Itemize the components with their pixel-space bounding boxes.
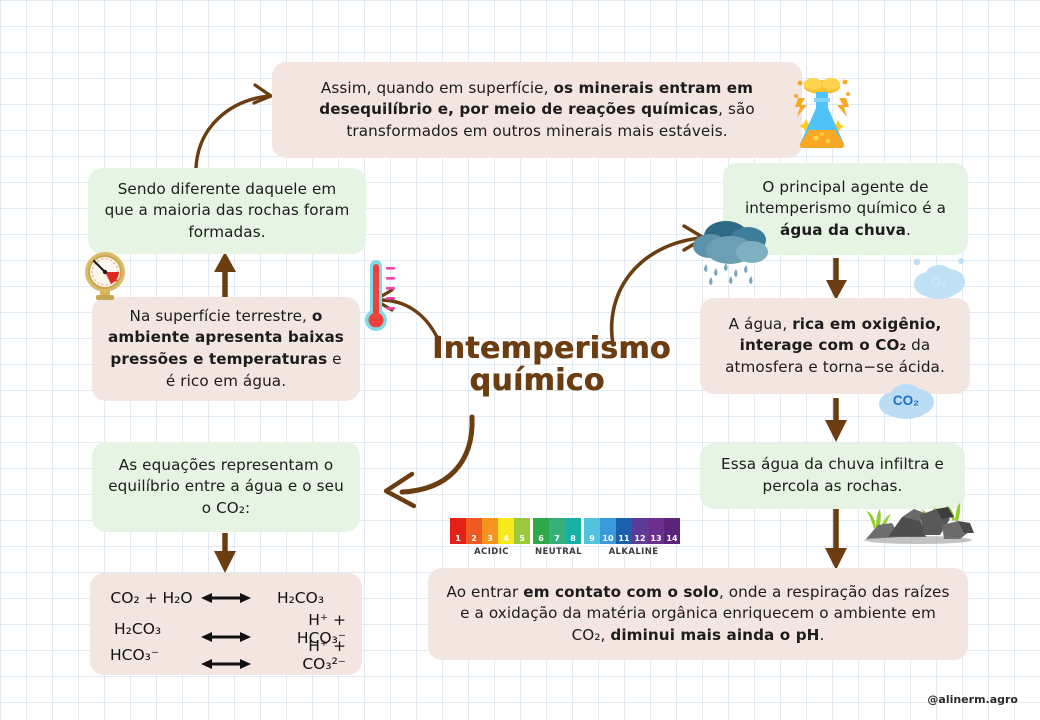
ph-cell: 2 [466, 518, 482, 544]
equilibrium-arrow-icon [186, 639, 266, 671]
right-oxygen-part1: A água, [729, 315, 793, 333]
ph-cell: 5 [514, 518, 530, 544]
ph-value: 5 [519, 534, 525, 543]
bottom-soil-bold1: em contato com o solo [523, 583, 719, 601]
pressure-gauge-icon [81, 250, 129, 302]
equations-box: CO₂ + H₂O H₂CO₃ H₂CO₃ H⁺ + HCO₃⁻ [90, 573, 362, 675]
right-infiltra-text: Essa água da chuva infiltra e percola as… [714, 454, 951, 497]
ph-value: 8 [570, 534, 576, 543]
equation-row: H₂CO₃ H⁺ + HCO₃⁻ [106, 611, 346, 637]
ph-value: 12 [634, 534, 645, 543]
bottom-soil-bold2: diminui mais ainda o pH [610, 626, 819, 644]
bottom-soil-part3: . [820, 626, 825, 644]
rocks-icon [858, 495, 978, 545]
ph-value: 13 [650, 534, 661, 543]
co2-cloud-icon: CO₂ [872, 378, 944, 424]
equation-rhs: H⁺ + CO₃²⁻ [266, 637, 346, 673]
box-bottom-soil: Ao entrar em contato com o solo, onde a … [428, 568, 968, 660]
box-left-equations-intro: As equações representam o equilíbrio ent… [92, 442, 360, 532]
equation-lhs: HCO₃⁻ [106, 646, 186, 664]
ph-cell: 8 [565, 518, 581, 544]
ph-cell: 9 [584, 518, 600, 544]
ph-scale: 1 2 3 4 5 6 7 8 9 10 11 12 13 14 ACIDIC … [450, 518, 683, 557]
equilibrium-arrow-icon [197, 591, 255, 605]
ph-cell: 13 [648, 518, 664, 544]
top-line1-plain: Assim, quando em superfície, [321, 79, 554, 97]
thermometer-icon [364, 258, 400, 340]
ph-cell: 7 [549, 518, 565, 544]
ph-value: 14 [666, 534, 677, 543]
infographic-canvas: Assim, quando em superfície, os minerais… [0, 0, 1040, 720]
page-title: Intemperismo químico [432, 333, 642, 397]
ph-value: 6 [538, 534, 544, 543]
equation-lhs: H₂CO₃ [106, 620, 186, 638]
box-left-surface: Na superfície terrestre, o ambiente apre… [92, 297, 360, 401]
ph-cell: 14 [664, 518, 680, 544]
left-surface-part1: Na superfície terrestre, [130, 307, 312, 325]
o2-label: O₂ [931, 274, 947, 289]
flask-icon [786, 72, 858, 152]
left-rocks-formed-text: Sendo diferente daquele em que a maioria… [102, 179, 352, 244]
right-agent-part1: O principal agente de intemperismo quími… [745, 178, 946, 218]
ph-value: 4 [503, 534, 509, 543]
box-top-minerals: Assim, quando em superfície, os minerais… [272, 62, 802, 158]
o2-cloud-icon: O₂ [905, 256, 979, 306]
arrow-center-to-equations [386, 417, 472, 506]
page-title-line2: químico [432, 365, 642, 397]
ph-value: 7 [554, 534, 560, 543]
arrow-down-right-3 [825, 508, 847, 570]
ph-cell: 12 [632, 518, 648, 544]
watermark: @alinerm.agro [927, 693, 1018, 706]
ph-scale-bars: 1 2 3 4 5 6 7 8 9 10 11 12 13 14 [450, 518, 683, 544]
arrow-down-right-2 [825, 398, 847, 442]
ph-cell: 4 [498, 518, 514, 544]
ph-value: 3 [487, 534, 493, 543]
arrow-up-left-column [214, 252, 236, 298]
right-agent-bold1: água da chuva [780, 221, 906, 239]
ph-cell: 3 [482, 518, 498, 544]
ph-label-alkaline: ALKALINE [584, 547, 683, 557]
equation-rhs: H₂CO₃ [255, 589, 346, 607]
ph-cell: 11 [616, 518, 632, 544]
ph-label-acidic: ACIDIC [450, 547, 533, 557]
page-title-line1: Intemperismo [432, 333, 642, 365]
left-equations-intro-text: As equações representam o equilíbrio ent… [106, 455, 346, 520]
bottom-soil-part1: Ao entrar [447, 583, 524, 601]
arrow-curved-to-top-box [196, 85, 271, 168]
ph-value: 9 [589, 534, 595, 543]
equation-lhs: CO₂ + H₂O [106, 589, 197, 607]
equation-row: HCO₃⁻ H⁺ + CO₃²⁻ [106, 637, 346, 663]
arrow-down-left-equations [214, 533, 236, 573]
top-line1-bold: os minerais entram em [553, 79, 753, 97]
ph-value: 10 [602, 534, 613, 543]
ph-label-neutral: NEUTRAL [533, 547, 584, 557]
top-line3-plain: transformados em outros minerais mais es… [346, 122, 727, 140]
box-left-rocks-formed: Sendo diferente daquele em que a maioria… [88, 168, 366, 254]
ph-cell: 1 [450, 518, 466, 544]
ph-value: 11 [618, 534, 629, 543]
ph-value: 1 [455, 534, 461, 543]
rain-cloud-icon [690, 216, 786, 296]
top-line2-bold: desequilíbrio e, por meio de reações quí… [319, 100, 718, 118]
top-line2-plain: , são [718, 100, 755, 118]
co2-label: CO₂ [893, 393, 919, 408]
right-agent-part2: . [906, 221, 911, 239]
ph-cell: 6 [533, 518, 549, 544]
equation-row: CO₂ + H₂O H₂CO₃ [106, 585, 346, 611]
arrow-down-right-1 [826, 258, 847, 300]
ph-value: 2 [471, 534, 477, 543]
ph-cell: 10 [600, 518, 616, 544]
ph-scale-group-labels: ACIDIC NEUTRAL ALKALINE [450, 547, 683, 557]
